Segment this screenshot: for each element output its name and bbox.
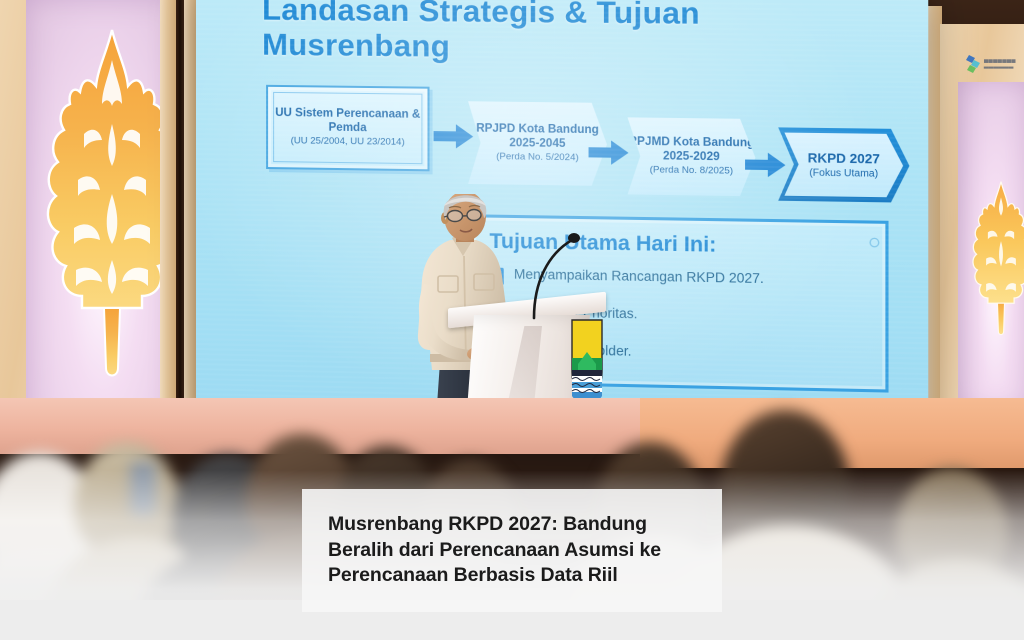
slide-title: Landasan Strategis & Tujuan Musrenbang — [262, 0, 751, 67]
flow-node-rpjmd: RPJMD Kota Bandung 2025-2029 (Perda No. … — [628, 117, 756, 196]
gunungan-ornament-icon-right — [966, 98, 1024, 428]
left-trim-post — [160, 0, 176, 448]
flow-node-sublabel: (Perda No. 5/2024) — [496, 152, 579, 164]
slide-watermark-icon — [869, 237, 880, 248]
flow-node-uu-sistem: UU Sistem Perencanaan & Pemda (UU 25/200… — [266, 85, 429, 172]
sponsor-logo: ▄▄▄▄▄▄▄▂▂▂▂▂▂ — [966, 50, 1022, 76]
flow-node-rkpd-2027: RKPD 2027 (Fokus Utama) — [778, 127, 909, 202]
flow-node-label: RKPD 2027 — [808, 150, 880, 167]
microphone-icon — [528, 232, 608, 322]
flow-arrow-icon — [434, 123, 475, 150]
bandung-city-emblem-icon — [570, 318, 604, 404]
sponsor-logo-text: ▄▄▄▄▄▄▄▂▂▂▂▂▂ — [984, 57, 1016, 70]
right-ornament-panel — [940, 24, 1024, 444]
flow-node-label: RPJMD Kota Bandung 2025-2029 — [628, 136, 756, 165]
caption-headline: Musrenbang RKPD 2027: Bandung Beralih da… — [302, 512, 722, 590]
slide-flow-diagram: UU Sistem Perencanaan & Pemda (UU 25/200… — [266, 81, 928, 203]
caption-card: Musrenbang RKPD 2027: Bandung Beralih da… — [302, 489, 722, 612]
flow-node-sublabel: (Perda No. 8/2025) — [650, 165, 733, 177]
flow-node-sublabel: (Fokus Utama) — [808, 167, 880, 180]
flow-node-label: UU Sistem Perencanaan & Pemda — [268, 107, 427, 136]
sponsor-logo-mark-icon — [966, 54, 981, 73]
flow-node-sublabel: (UU 25/2004, UU 23/2014) — [291, 136, 405, 148]
flow-node-rpjpd: RPJPD Kota Bandung 2025-2045 (Perda No. … — [468, 101, 607, 186]
left-dark-post — [176, 0, 184, 448]
screenshot-stage: ▄▄▄▄▄▄▄▂▂▂▂▂▂ Landasan Strategis & Tujua… — [0, 0, 1024, 640]
flow-arrow-icon — [589, 139, 630, 166]
flow-node-label: RPJPD Kota Bandung 2025-2045 — [468, 122, 607, 151]
flow-arrow-icon — [745, 151, 786, 178]
